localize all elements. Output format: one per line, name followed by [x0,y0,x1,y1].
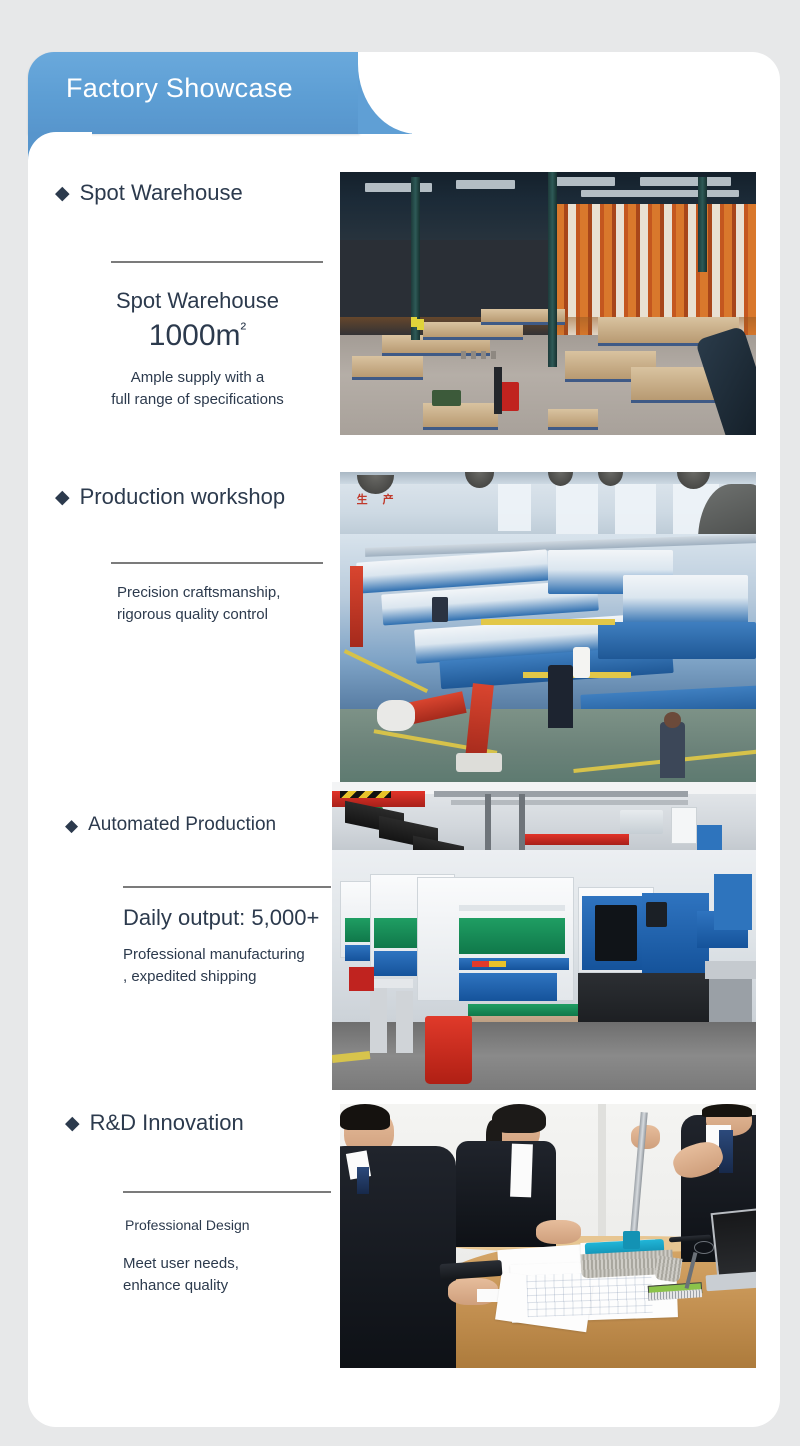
workshop-signage: 生 产 [357,491,400,507]
section-heading-production-workshop: ◆ Production workshop [55,484,345,510]
section-divider [123,886,331,888]
section-divider [123,1191,331,1193]
section-production-workshop: ◆ Production workshop Precision craftsma… [55,484,345,626]
section-desc-line-1: Precision craftsmanship, [117,582,345,604]
section-desc-line-2: rigorous quality control [117,604,345,626]
factory-showcase-page: ◆ Spot Warehouse Spot Warehouse 1000m² A… [0,0,800,1446]
diamond-bullet-icon: ◆ [55,184,70,203]
section-heading-automated-production: ◆ Automated Production [65,814,355,836]
tab-foot-decoration [28,132,92,160]
section-divider [111,261,323,263]
section-heading-rnd-innovation: ◆ R&D Innovation [65,1110,355,1136]
diamond-bullet-icon: ◆ [65,817,78,834]
section-divider [111,562,323,564]
rnd-meeting-photo [340,1104,756,1368]
section-rnd-innovation: ◆ R&D Innovation Professional Design Mee… [65,1110,355,1297]
section-automated-production: ◆ Automated Production Daily output: 5,0… [65,814,355,988]
showcase-card: ◆ Spot Warehouse Spot Warehouse 1000m² A… [28,52,780,1427]
section-spot-warehouse: ◆ Spot Warehouse Spot Warehouse 1000m² A… [55,180,340,411]
section-desc-line-2: , expedited shipping [123,966,355,988]
page-title: Factory Showcase [66,73,293,104]
section-title-label: Production workshop [80,484,285,510]
diamond-bullet-icon: ◆ [55,488,70,507]
production-workshop-photo: 生 产 [340,472,756,784]
section-desc-line-2: full range of specifications [55,389,340,411]
section-desc-line-1: Ample supply with a [55,367,340,389]
diamond-bullet-icon: ◆ [65,1114,80,1133]
stat-superscript: ² [241,319,247,338]
section-desc-line-1: Professional manufacturing [123,944,355,966]
section-desc-line-2: enhance quality [123,1275,355,1297]
stat-label: Daily output: 5,000+ [123,905,355,931]
automated-production-photo [332,782,756,1090]
header-tab: Factory Showcase [28,52,360,134]
section-title-label: Spot Warehouse [80,180,243,206]
section-heading-spot-warehouse: ◆ Spot Warehouse [55,180,340,206]
tab-curve-decoration [358,52,412,134]
stat-label: Spot Warehouse [55,288,340,314]
section-title-label: Automated Production [88,814,276,836]
section-sub-label: Professional Design [125,1215,355,1235]
stat-value: 1000m² [55,319,340,353]
section-desc-line-1: Meet user needs, [123,1253,355,1275]
warehouse-photo [340,172,756,435]
section-title-label: R&D Innovation [90,1110,244,1136]
